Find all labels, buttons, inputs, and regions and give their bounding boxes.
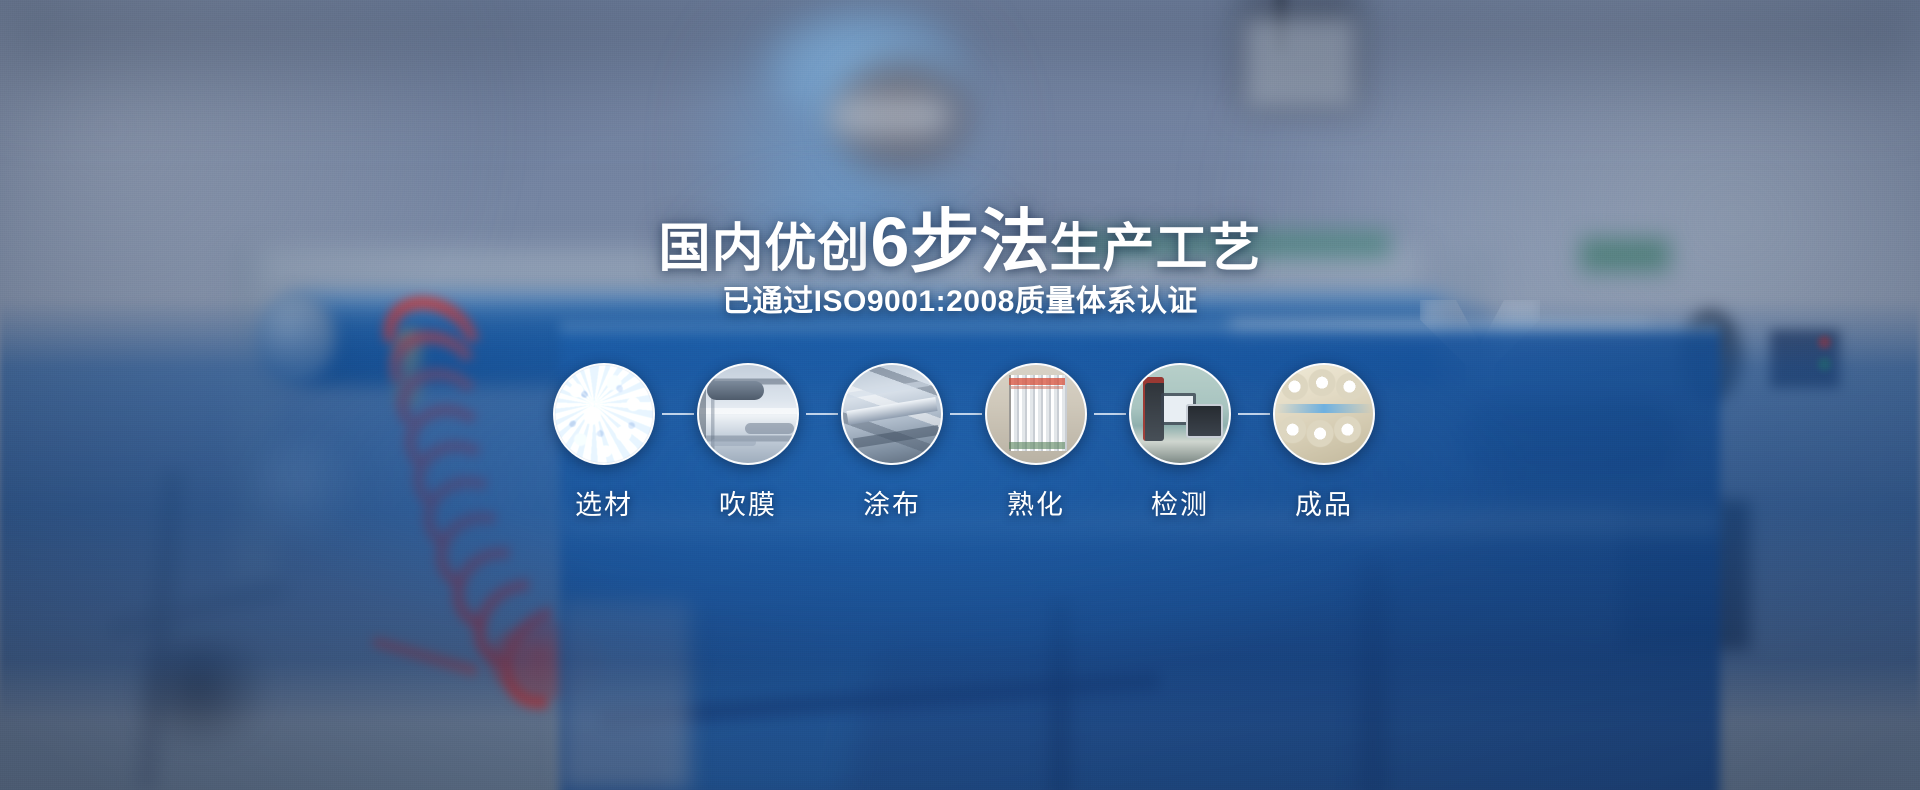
step-6-label: 成品 <box>1273 483 1375 522</box>
connector-5-6 <box>1238 413 1270 415</box>
banner-content: 国内优创6步法生产工艺 已通过ISO9001:2008质量体系认证 选材 吹膜 <box>0 0 1920 790</box>
film-blowing-machine-icon <box>699 365 797 463</box>
step-4-label: 熟化 <box>985 483 1087 522</box>
process-step-3[interactable]: 涂布 <box>841 363 943 522</box>
step-5-label: 检测 <box>1129 483 1231 522</box>
headline-tail: 生产工艺 <box>1049 220 1261 278</box>
connector-2-3 <box>806 413 838 415</box>
step-1-label: 选材 <box>553 483 655 522</box>
process-step-flow: 选材 吹膜 涂布 <box>553 363 1375 533</box>
process-banner: 国内优创6步法生产工艺 已通过ISO9001:2008质量体系认证 选材 吹膜 <box>0 0 1920 790</box>
step-2-label: 吹膜 <box>697 483 799 522</box>
process-step-5[interactable]: 检测 <box>1129 363 1231 522</box>
step-4-thumbnail[interactable] <box>985 363 1087 465</box>
connector-3-4 <box>950 413 982 415</box>
step-6-thumbnail[interactable] <box>1273 363 1375 465</box>
step-3-thumbnail[interactable] <box>841 363 943 465</box>
headline-lead: 国内优创 <box>659 220 871 278</box>
testing-instrument-icon <box>1131 365 1229 463</box>
headline-emphasis: 6步法 <box>871 203 1050 281</box>
connector-4-5 <box>1094 413 1126 415</box>
connector-1-2 <box>662 413 694 415</box>
certification-subtitle: 已通过ISO9001:2008质量体系认证 <box>0 276 1920 320</box>
process-step-1[interactable]: 选材 <box>553 363 655 522</box>
page-title: 国内优创6步法生产工艺 <box>0 207 1920 277</box>
step-3-label: 涂布 <box>841 483 943 522</box>
step-2-thumbnail[interactable] <box>697 363 799 465</box>
step-5-thumbnail[interactable] <box>1129 363 1231 465</box>
process-step-6[interactable]: 成品 <box>1273 363 1375 522</box>
finished-film-rolls-icon <box>1275 365 1373 463</box>
plastic-pellets-icon <box>555 365 653 463</box>
step-1-thumbnail[interactable] <box>553 363 655 465</box>
curing-room-icon <box>987 365 1085 463</box>
process-step-2[interactable]: 吹膜 <box>697 363 799 522</box>
coating-line-icon <box>843 365 941 463</box>
process-step-4[interactable]: 熟化 <box>985 363 1087 522</box>
